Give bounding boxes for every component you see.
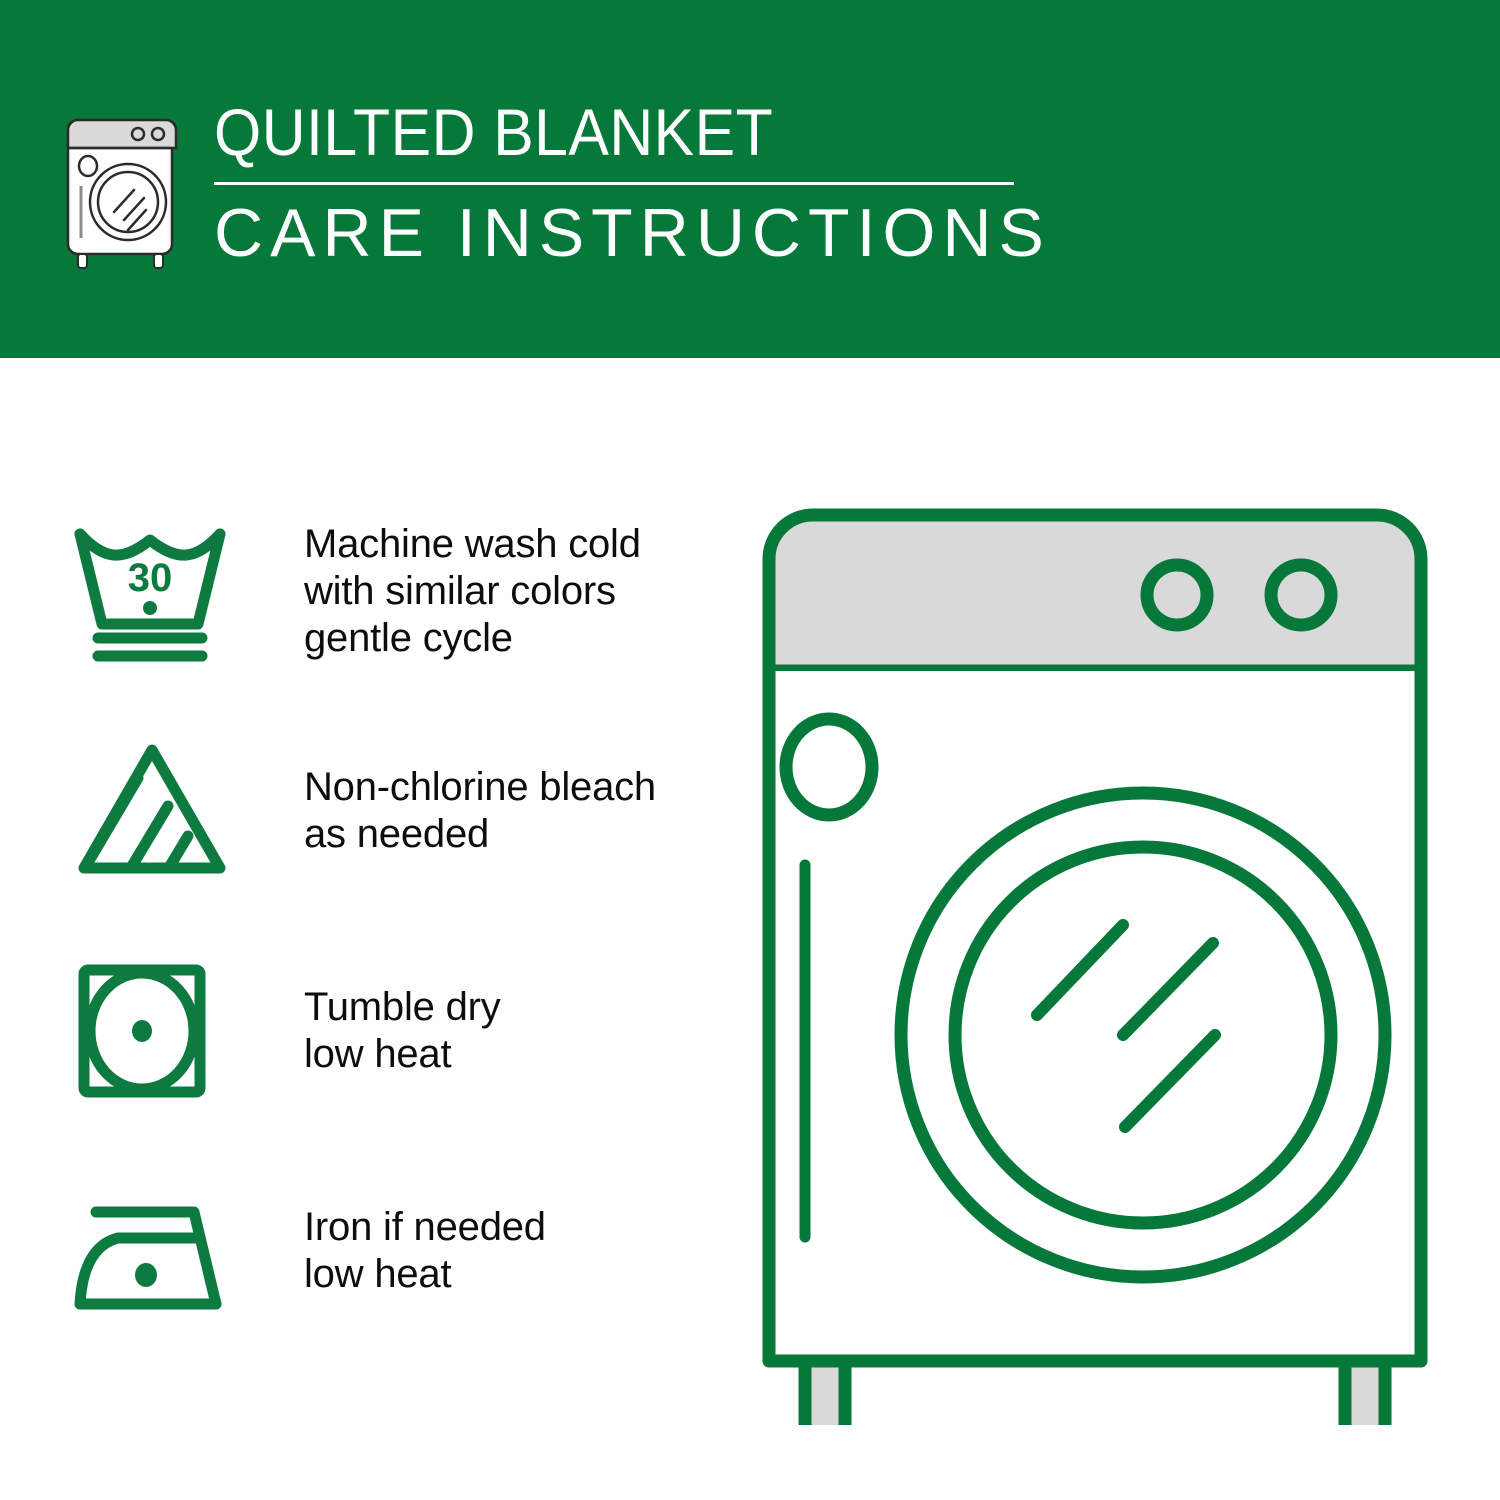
care-item-label: Iron if needed low heat (304, 1204, 546, 1298)
non-chlorine-bleach-triangle-icon (70, 736, 238, 886)
header-banner: QUILTED BLANKET CARE INSTRUCTIONS (0, 0, 1500, 358)
care-item: Non-chlorine bleach as needed (70, 725, 710, 897)
iron-low-heat-icon (70, 1176, 238, 1326)
care-instruction-list: 30 Machine wash cold with similar colors… (70, 505, 710, 1337)
care-item: 30 Machine wash cold with similar colors… (70, 505, 710, 677)
foot-left (805, 1361, 845, 1425)
title-divider (214, 182, 1014, 185)
svg-text:30: 30 (128, 556, 173, 600)
front-load-washing-machine-illustration (745, 495, 1445, 1425)
wash-tub-30-gentle-icon: 30 (70, 516, 238, 666)
knob-left (1147, 565, 1207, 625)
header-content: QUILTED BLANKET CARE INSTRUCTIONS (62, 96, 1051, 272)
knob-right (1271, 565, 1331, 625)
care-item-label: Non-chlorine bleach as needed (304, 764, 656, 858)
care-item-label: Machine wash cold with similar colors ge… (304, 521, 641, 662)
care-item-label: Tumble dry low heat (304, 984, 501, 1078)
tumble-dry-low-heat-icon (70, 956, 238, 1106)
header-title-group: QUILTED BLANKET CARE INSTRUCTIONS (214, 96, 1051, 271)
care-item: Tumble dry low heat (70, 945, 710, 1117)
washing-machine-icon (62, 104, 186, 272)
detergent-indicator (786, 719, 872, 815)
page-title: QUILTED BLANKET (214, 96, 984, 168)
foot-right (1345, 1361, 1385, 1425)
page-subtitle: CARE INSTRUCTIONS (214, 195, 1051, 271)
care-item: Iron if needed low heat (70, 1165, 710, 1337)
